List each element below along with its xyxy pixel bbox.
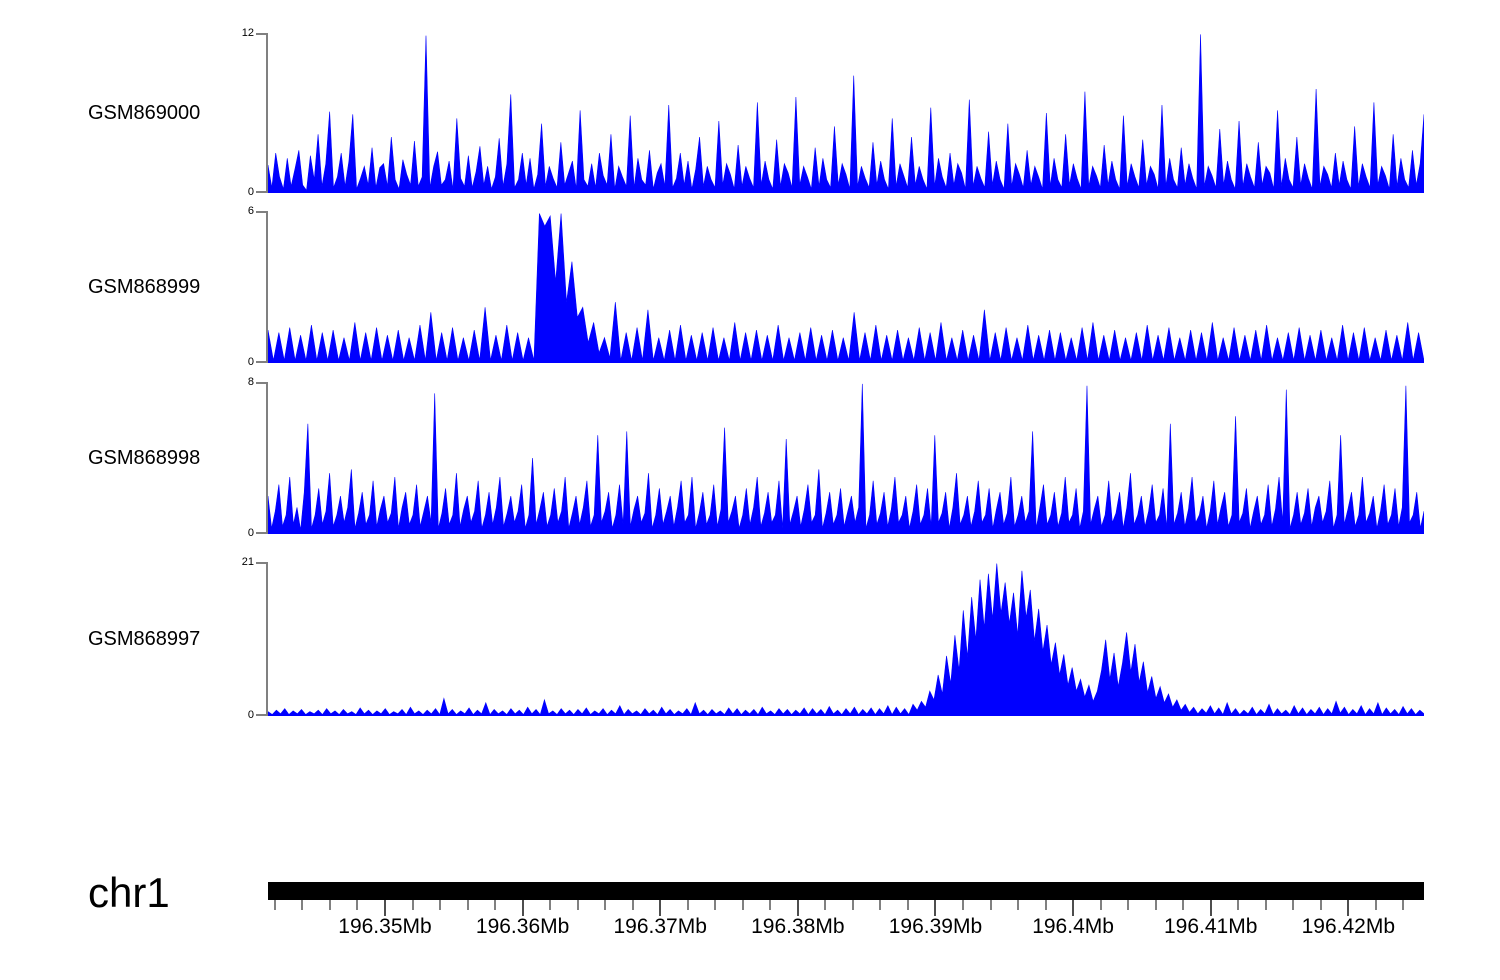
- axis-tick-minor: [962, 900, 964, 910]
- axis-tick-minor: [1100, 900, 1102, 910]
- axis-tick-major: [384, 900, 386, 916]
- track-plot-gsm868999[interactable]: [268, 211, 1424, 363]
- track-yaxis-gsm869000: 12 0: [236, 33, 268, 193]
- axis-tick-minor: [549, 900, 551, 910]
- axis-tick-minor: [301, 900, 303, 910]
- track-yaxis-gsm868997: 21 0: [236, 562, 268, 716]
- axis-tick-minor: [604, 900, 606, 910]
- axis-tick-minor: [879, 900, 881, 910]
- track-label-gsm868997: GSM868997: [88, 629, 238, 649]
- axis-tick-minor: [1127, 900, 1129, 910]
- track-yaxis-gsm868998: 8 0: [236, 382, 268, 534]
- chromosome-name-label: chr1: [88, 872, 170, 914]
- axis-tick-minor: [1182, 900, 1184, 910]
- yaxis-tick-min: [256, 361, 268, 363]
- axis-tick-minor: [1375, 900, 1377, 910]
- yaxis-tick-max: [256, 562, 268, 564]
- yaxis-min-label: 0: [248, 710, 254, 721]
- yaxis-max-label: 8: [248, 377, 254, 388]
- axis-tick-major: [659, 900, 661, 916]
- axis-tick-label: 196.37Mb: [614, 916, 707, 937]
- axis-tick-minor: [632, 900, 634, 910]
- track-label-gsm868999: GSM868999: [88, 277, 238, 297]
- track-label-gsm868998: GSM868998: [88, 448, 238, 468]
- yaxis-min-label: 0: [248, 187, 254, 198]
- axis-tick-label: 196.36Mb: [476, 916, 569, 937]
- axis-tick-minor: [1045, 900, 1047, 910]
- axis-tick-minor: [494, 900, 496, 910]
- axis-tick-major: [797, 900, 799, 916]
- track-gsm868999[interactable]: GSM868999 6 0: [0, 211, 1500, 363]
- axis-tick-label: 196.42Mb: [1302, 916, 1395, 937]
- track-label-gsm869000: GSM869000: [88, 103, 238, 123]
- axis-tick-major: [1072, 900, 1074, 916]
- chromosome-ideogram-bar[interactable]: [268, 882, 1424, 900]
- axis-tick-minor: [1265, 900, 1267, 910]
- yaxis-tick-max: [256, 382, 268, 384]
- chromosome-axis[interactable]: chr1 196.35Mb196.36Mb196.37Mb196.38Mb196…: [0, 862, 1500, 962]
- axis-tick-minor: [329, 900, 331, 910]
- yaxis-max-label: 21: [242, 557, 254, 568]
- axis-tick-minor: [769, 900, 771, 910]
- axis-tick-label: 196.4Mb: [1032, 916, 1114, 937]
- track-plot-gsm869000[interactable]: [268, 33, 1424, 193]
- axis-tick-minor: [1320, 900, 1322, 910]
- genome-browser: GSM869000 12 0 GSM868999 6 0 GSM868998 8: [0, 0, 1500, 980]
- coverage-area-gsm868997: [268, 562, 1424, 716]
- axis-tick-label: 196.39Mb: [889, 916, 982, 937]
- axis-tick-minor: [1292, 900, 1294, 910]
- axis-tick-minor: [1402, 900, 1404, 910]
- axis-tick-major: [934, 900, 936, 916]
- axis-tick-minor: [687, 900, 689, 910]
- axis-tick-minor: [852, 900, 854, 910]
- yaxis-min-label: 0: [248, 528, 254, 539]
- axis-tick-minor: [907, 900, 909, 910]
- axis-tick-label: 196.35Mb: [338, 916, 431, 937]
- axis-tick-minor: [714, 900, 716, 910]
- track-plot-gsm868997[interactable]: [268, 562, 1424, 716]
- axis-tick-minor: [356, 900, 358, 910]
- axis-tick-minor: [1155, 900, 1157, 910]
- axis-tick-minor: [990, 900, 992, 910]
- axis-tick-minor: [1017, 900, 1019, 910]
- axis-tick-minor: [1237, 900, 1239, 910]
- yaxis-tick-min: [256, 191, 268, 193]
- track-plot-gsm868998[interactable]: [268, 382, 1424, 534]
- track-gsm869000[interactable]: GSM869000 12 0: [0, 33, 1500, 193]
- axis-tick-major: [1210, 900, 1212, 916]
- yaxis-min-label: 0: [248, 357, 254, 368]
- axis-tick-label: 196.41Mb: [1164, 916, 1257, 937]
- yaxis-tick-max: [256, 211, 268, 213]
- yaxis-max-label: 12: [242, 28, 254, 39]
- axis-tick-minor: [577, 900, 579, 910]
- axis-tick-minor: [824, 900, 826, 910]
- axis-tick-minor: [412, 900, 414, 910]
- axis-tick-major: [1347, 900, 1349, 916]
- axis-tick-minor: [467, 900, 469, 910]
- axis-tick-label: 196.38Mb: [751, 916, 844, 937]
- yaxis-tick-min: [256, 532, 268, 534]
- track-gsm868997[interactable]: GSM868997 21 0: [0, 562, 1500, 716]
- yaxis-max-label: 6: [248, 206, 254, 217]
- coverage-area-gsm868998: [268, 382, 1424, 534]
- yaxis-tick-min: [256, 714, 268, 716]
- coverage-area-gsm869000: [268, 33, 1424, 193]
- track-gsm868998[interactable]: GSM868998 8 0: [0, 382, 1500, 534]
- axis-tick-major: [522, 900, 524, 916]
- coverage-area-gsm868999: [268, 211, 1424, 363]
- axis-tick-minor: [439, 900, 441, 910]
- axis-tick-minor: [274, 900, 276, 910]
- track-yaxis-gsm868999: 6 0: [236, 211, 268, 363]
- axis-tick-minor: [742, 900, 744, 910]
- yaxis-tick-max: [256, 33, 268, 35]
